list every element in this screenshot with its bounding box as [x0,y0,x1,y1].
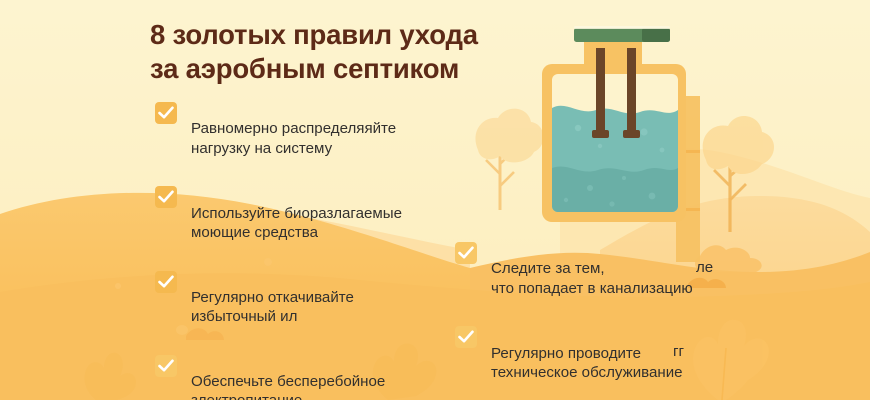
list-item-line-2: избыточный ил [191,307,354,326]
list-item-line-1: Регулярно проводите [491,345,641,362]
list-item-line-2: нагрузку на систему [191,139,396,158]
list-item-line-1: Следите за тем, [491,260,605,277]
title-line-2: за аэробным септиком [150,52,540,86]
check-icon [155,355,177,377]
check-icon [455,326,477,348]
list-item: Равномерно распределяяйте нагрузку на си… [155,100,485,177]
check-icon [155,186,177,208]
list-item-line-1: Регулярно откачивайте [191,289,354,306]
infographic-canvas: 8 золотых правил ухода за аэробным септи… [0,0,870,400]
list-item-line-2: моющие средства [191,223,402,242]
list-item-text: Обеспечьте бесперебойное злектропитание [191,353,385,400]
check-icon [455,242,477,264]
title-line-1: 8 золотых правил ухода [150,18,540,52]
list-item-line-1: Используйте биоразлагаемые [191,205,402,222]
list-item-line-1: Равномерно распределяяйте [191,120,396,137]
list-item: Регулярно откачивайте избыточный ил [155,269,485,346]
list-item-line-2: что попадает в канализацию [491,279,693,298]
list-item-line-2: злектропитание [191,391,385,400]
tank-lid [574,26,670,42]
checklist-right-column: Следите за тем, что попадает в канализац… [455,240,805,400]
text-overlap-artifact: ле [696,258,713,277]
list-item: Обеспечьте бесперебойное злектропитание [155,353,485,400]
list-item-text: Регулярно проводите техническое обслужив… [491,324,683,400]
checklist-left-column: Равномерно распределяяйте нагрузку на си… [155,100,485,400]
list-item: Следите за тем, что попадает в канализац… [455,240,805,317]
list-item-text: Следите за тем, что попадает в канализац… [491,240,693,317]
list-item: Используйте биоразлагаемые моющие средст… [155,184,485,261]
page-title: 8 золотых правил ухода за аэробным септи… [150,18,540,85]
check-icon [155,102,177,124]
tank-water [552,106,678,212]
list-item-text: Используйте биоразлагаемые моющие средст… [191,184,402,261]
list-item-text: Равномерно распределяяйте нагрузку на си… [191,100,396,177]
check-icon [155,271,177,293]
list-item-line-1: Обеспечьте бесперебойное [191,373,385,390]
list-item: Регулярно проводите техническое обслужив… [455,324,805,400]
list-item-text: Регулярно откачивайте избыточный ил [191,269,354,346]
list-item-line-2: техническое обслуживание [491,363,683,382]
